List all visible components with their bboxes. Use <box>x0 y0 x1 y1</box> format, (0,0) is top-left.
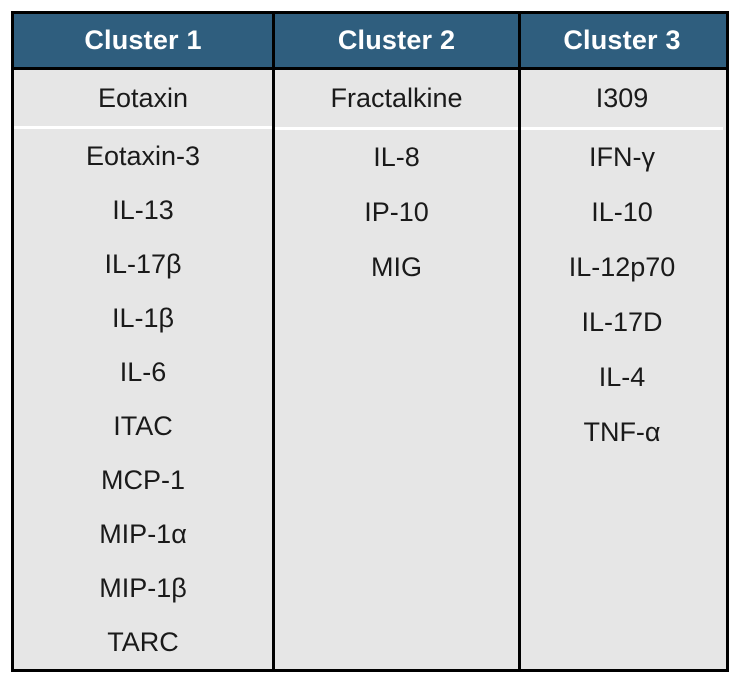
column-header-cluster-2: Cluster 2 <box>272 14 518 67</box>
list-item: MIG <box>275 240 518 295</box>
cluster-table: Cluster 1 Cluster 2 Cluster 3 Eotaxin Eo… <box>11 11 729 672</box>
column-header-cluster-3: Cluster 3 <box>518 14 723 67</box>
list-item: IL-12p70 <box>521 240 723 295</box>
list-item: I309 <box>521 72 723 130</box>
list-item: TARC <box>14 615 272 669</box>
list-item: IL-10 <box>521 185 723 240</box>
list-item: IL-6 <box>14 345 272 399</box>
list-item: IL-17β <box>14 237 272 291</box>
list-item: TNF-α <box>521 405 723 460</box>
list-item: IL-4 <box>521 350 723 405</box>
page-root: Cluster 1 Cluster 2 Cluster 3 Eotaxin Eo… <box>0 0 742 686</box>
list-item: Eotaxin <box>14 72 272 129</box>
list-item: IL-13 <box>14 183 272 237</box>
list-item: MCP-1 <box>14 453 272 507</box>
list-item: MIP-1α <box>14 507 272 561</box>
list-item: Eotaxin-3 <box>14 129 272 183</box>
list-item: MIP-1β <box>14 561 272 615</box>
table-header-row: Cluster 1 Cluster 2 Cluster 3 <box>14 14 726 70</box>
list-item: IL-1β <box>14 291 272 345</box>
list-item: IL-17D <box>521 295 723 350</box>
list-item: IFN-γ <box>521 130 723 185</box>
column-body-cluster-3: I309 IFN-γ IL-10 IL-12p70 IL-17D IL-4 TN… <box>518 70 723 669</box>
column-header-cluster-1: Cluster 1 <box>14 14 272 67</box>
list-item: ITAC <box>14 399 272 453</box>
list-item: IP-10 <box>275 185 518 240</box>
column-body-cluster-1: Eotaxin Eotaxin-3 IL-13 IL-17β IL-1β IL-… <box>14 70 272 669</box>
list-item: IL-8 <box>275 130 518 185</box>
list-item: Fractalkine <box>275 72 518 130</box>
column-body-cluster-2: Fractalkine IL-8 IP-10 MIG <box>272 70 518 669</box>
table-body: Eotaxin Eotaxin-3 IL-13 IL-17β IL-1β IL-… <box>14 70 726 669</box>
